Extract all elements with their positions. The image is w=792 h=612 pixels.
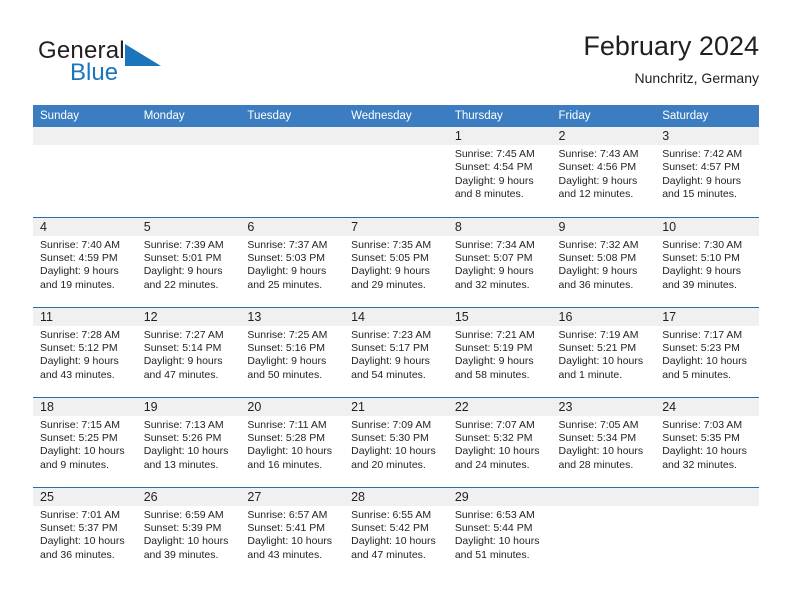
daylight-text: Daylight: 10 hours and 20 minutes. [351, 445, 440, 472]
calendar-day-cell-empty [240, 127, 344, 217]
day-number [552, 488, 656, 506]
daylight-text: Daylight: 10 hours and 16 minutes. [247, 445, 336, 472]
day-number: 16 [552, 308, 656, 326]
day-details: Sunrise: 7:17 AMSunset: 5:23 PMDaylight:… [655, 326, 759, 383]
day-details: Sunrise: 7:01 AMSunset: 5:37 PMDaylight:… [33, 506, 137, 563]
day-details: Sunrise: 7:21 AMSunset: 5:19 PMDaylight:… [448, 326, 552, 383]
sunset-text: Sunset: 5:07 PM [455, 252, 544, 265]
daylight-text: Daylight: 10 hours and 13 minutes. [144, 445, 233, 472]
daylight-text: Daylight: 9 hours and 32 minutes. [455, 265, 544, 292]
day-details: Sunrise: 7:27 AMSunset: 5:14 PMDaylight:… [137, 326, 241, 383]
sunset-text: Sunset: 5:16 PM [247, 342, 336, 355]
calendar-body: 1Sunrise: 7:45 AMSunset: 4:54 PMDaylight… [33, 127, 759, 575]
day-number [344, 127, 448, 145]
sunset-text: Sunset: 5:14 PM [144, 342, 233, 355]
calendar-day-cell[interactable]: 24Sunrise: 7:03 AMSunset: 5:35 PMDayligh… [655, 397, 759, 487]
sunset-text: Sunset: 4:57 PM [662, 161, 751, 174]
calendar-page: General Blue February 2024 Nunchritz, Ge… [0, 0, 792, 612]
calendar-day-cell[interactable]: 9Sunrise: 7:32 AMSunset: 5:08 PMDaylight… [552, 217, 656, 307]
calendar-week-row: 11Sunrise: 7:28 AMSunset: 5:12 PMDayligh… [33, 307, 759, 397]
daylight-text: Daylight: 10 hours and 1 minute. [559, 355, 648, 382]
day-number: 1 [448, 127, 552, 145]
sunrise-text: Sunrise: 7:39 AM [144, 239, 233, 252]
daylight-text: Daylight: 10 hours and 43 minutes. [247, 535, 336, 562]
day-details: Sunrise: 7:30 AMSunset: 5:10 PMDaylight:… [655, 236, 759, 293]
calendar-day-cell[interactable]: 14Sunrise: 7:23 AMSunset: 5:17 PMDayligh… [344, 307, 448, 397]
sunset-text: Sunset: 5:03 PM [247, 252, 336, 265]
sunrise-text: Sunrise: 7:45 AM [455, 148, 544, 161]
calendar-day-cell[interactable]: 28Sunrise: 6:55 AMSunset: 5:42 PMDayligh… [344, 487, 448, 575]
calendar-week-row: 18Sunrise: 7:15 AMSunset: 5:25 PMDayligh… [33, 397, 759, 487]
sunrise-text: Sunrise: 7:34 AM [455, 239, 544, 252]
weekday-header-tuesday: Tuesday [240, 105, 344, 127]
calendar-day-cell[interactable]: 27Sunrise: 6:57 AMSunset: 5:41 PMDayligh… [240, 487, 344, 575]
daylight-text: Daylight: 9 hours and 12 minutes. [559, 175, 648, 202]
day-details: Sunrise: 7:25 AMSunset: 5:16 PMDaylight:… [240, 326, 344, 383]
day-details: Sunrise: 6:57 AMSunset: 5:41 PMDaylight:… [240, 506, 344, 563]
sunset-text: Sunset: 5:05 PM [351, 252, 440, 265]
day-number: 3 [655, 127, 759, 145]
sunrise-text: Sunrise: 7:15 AM [40, 419, 129, 432]
day-details: Sunrise: 7:40 AMSunset: 4:59 PMDaylight:… [33, 236, 137, 293]
daylight-text: Daylight: 10 hours and 39 minutes. [144, 535, 233, 562]
brand-name-bottom: Blue [70, 60, 118, 86]
daylight-text: Daylight: 9 hours and 58 minutes. [455, 355, 544, 382]
sunrise-text: Sunrise: 7:01 AM [40, 509, 129, 522]
sunset-text: Sunset: 5:41 PM [247, 522, 336, 535]
sunset-text: Sunset: 5:30 PM [351, 432, 440, 445]
sunrise-text: Sunrise: 7:40 AM [40, 239, 129, 252]
daylight-text: Daylight: 9 hours and 50 minutes. [247, 355, 336, 382]
sunset-text: Sunset: 5:01 PM [144, 252, 233, 265]
sunset-text: Sunset: 5:44 PM [455, 522, 544, 535]
day-details: Sunrise: 7:13 AMSunset: 5:26 PMDaylight:… [137, 416, 241, 473]
calendar-day-cell[interactable]: 11Sunrise: 7:28 AMSunset: 5:12 PMDayligh… [33, 307, 137, 397]
sunset-text: Sunset: 5:34 PM [559, 432, 648, 445]
calendar-week-row: 4Sunrise: 7:40 AMSunset: 4:59 PMDaylight… [33, 217, 759, 307]
sunrise-text: Sunrise: 7:11 AM [247, 419, 336, 432]
day-details: Sunrise: 6:55 AMSunset: 5:42 PMDaylight:… [344, 506, 448, 563]
calendar-day-cell[interactable]: 21Sunrise: 7:09 AMSunset: 5:30 PMDayligh… [344, 397, 448, 487]
daylight-text: Daylight: 9 hours and 15 minutes. [662, 175, 751, 202]
day-number [137, 127, 241, 145]
daylight-text: Daylight: 9 hours and 54 minutes. [351, 355, 440, 382]
daylight-text: Daylight: 9 hours and 25 minutes. [247, 265, 336, 292]
daylight-text: Daylight: 10 hours and 36 minutes. [40, 535, 129, 562]
general-blue-logo[interactable]: General Blue [33, 38, 263, 96]
weekday-header-friday: Friday [552, 105, 656, 127]
day-number: 17 [655, 308, 759, 326]
day-details: Sunrise: 7:34 AMSunset: 5:07 PMDaylight:… [448, 236, 552, 293]
calendar-day-cell[interactable]: 15Sunrise: 7:21 AMSunset: 5:19 PMDayligh… [448, 307, 552, 397]
day-details: Sunrise: 6:59 AMSunset: 5:39 PMDaylight:… [137, 506, 241, 563]
day-number: 12 [137, 308, 241, 326]
calendar-day-cell[interactable]: 2Sunrise: 7:43 AMSunset: 4:56 PMDaylight… [552, 127, 656, 217]
calendar-day-cell[interactable]: 20Sunrise: 7:11 AMSunset: 5:28 PMDayligh… [240, 397, 344, 487]
sunrise-text: Sunrise: 7:13 AM [144, 419, 233, 432]
day-number: 7 [344, 218, 448, 236]
day-number: 4 [33, 218, 137, 236]
calendar-day-cell[interactable]: 29Sunrise: 6:53 AMSunset: 5:44 PMDayligh… [448, 487, 552, 575]
daylight-text: Daylight: 10 hours and 5 minutes. [662, 355, 751, 382]
daylight-text: Daylight: 10 hours and 51 minutes. [455, 535, 544, 562]
calendar-day-cell-empty [655, 487, 759, 575]
sunset-text: Sunset: 5:12 PM [40, 342, 129, 355]
sunrise-text: Sunrise: 7:21 AM [455, 329, 544, 342]
day-details: Sunrise: 6:53 AMSunset: 5:44 PMDaylight:… [448, 506, 552, 563]
day-number: 22 [448, 398, 552, 416]
calendar-day-cell-empty [137, 127, 241, 217]
daylight-text: Daylight: 10 hours and 32 minutes. [662, 445, 751, 472]
sunrise-text: Sunrise: 6:59 AM [144, 509, 233, 522]
calendar-day-cell[interactable]: 25Sunrise: 7:01 AMSunset: 5:37 PMDayligh… [33, 487, 137, 575]
calendar-day-cell[interactable]: 4Sunrise: 7:40 AMSunset: 4:59 PMDaylight… [33, 217, 137, 307]
sunrise-text: Sunrise: 7:32 AM [559, 239, 648, 252]
day-number: 2 [552, 127, 656, 145]
sunset-text: Sunset: 5:08 PM [559, 252, 648, 265]
calendar-day-cell[interactable]: 5Sunrise: 7:39 AMSunset: 5:01 PMDaylight… [137, 217, 241, 307]
daylight-text: Daylight: 9 hours and 39 minutes. [662, 265, 751, 292]
daylight-text: Daylight: 10 hours and 28 minutes. [559, 445, 648, 472]
calendar-day-cell[interactable]: 22Sunrise: 7:07 AMSunset: 5:32 PMDayligh… [448, 397, 552, 487]
day-details: Sunrise: 7:35 AMSunset: 5:05 PMDaylight:… [344, 236, 448, 293]
sunset-text: Sunset: 4:59 PM [40, 252, 129, 265]
weekday-header-wednesday: Wednesday [344, 105, 448, 127]
day-number: 21 [344, 398, 448, 416]
sunrise-text: Sunrise: 7:09 AM [351, 419, 440, 432]
day-number: 28 [344, 488, 448, 506]
daylight-text: Daylight: 9 hours and 47 minutes. [144, 355, 233, 382]
sunrise-text: Sunrise: 7:17 AM [662, 329, 751, 342]
weekday-header-row: Sunday Monday Tuesday Wednesday Thursday… [33, 105, 759, 127]
day-number [33, 127, 137, 145]
calendar-day-cell[interactable]: 8Sunrise: 7:34 AMSunset: 5:07 PMDaylight… [448, 217, 552, 307]
day-details: Sunrise: 7:11 AMSunset: 5:28 PMDaylight:… [240, 416, 344, 473]
sunrise-text: Sunrise: 7:27 AM [144, 329, 233, 342]
daylight-text: Daylight: 9 hours and 8 minutes. [455, 175, 544, 202]
day-details: Sunrise: 7:37 AMSunset: 5:03 PMDaylight:… [240, 236, 344, 293]
calendar-day-cell[interactable]: 7Sunrise: 7:35 AMSunset: 5:05 PMDaylight… [344, 217, 448, 307]
sunset-text: Sunset: 5:17 PM [351, 342, 440, 355]
day-details: Sunrise: 7:03 AMSunset: 5:35 PMDaylight:… [655, 416, 759, 473]
calendar-day-cell[interactable]: 1Sunrise: 7:45 AMSunset: 4:54 PMDaylight… [448, 127, 552, 217]
calendar-day-cell[interactable]: 3Sunrise: 7:42 AMSunset: 4:57 PMDaylight… [655, 127, 759, 217]
calendar-day-cell-empty [33, 127, 137, 217]
sunrise-text: Sunrise: 7:43 AM [559, 148, 648, 161]
calendar-day-cell[interactable]: 10Sunrise: 7:30 AMSunset: 5:10 PMDayligh… [655, 217, 759, 307]
day-number: 18 [33, 398, 137, 416]
day-number: 19 [137, 398, 241, 416]
calendar-day-cell-empty [552, 487, 656, 575]
daylight-text: Daylight: 9 hours and 29 minutes. [351, 265, 440, 292]
sunset-text: Sunset: 5:10 PM [662, 252, 751, 265]
sunset-text: Sunset: 5:23 PM [662, 342, 751, 355]
day-number: 14 [344, 308, 448, 326]
day-details: Sunrise: 7:45 AMSunset: 4:54 PMDaylight:… [448, 145, 552, 202]
calendar-day-cell[interactable]: 23Sunrise: 7:05 AMSunset: 5:34 PMDayligh… [552, 397, 656, 487]
calendar-table: Sunday Monday Tuesday Wednesday Thursday… [33, 105, 759, 575]
sunset-text: Sunset: 4:54 PM [455, 161, 544, 174]
day-number: 5 [137, 218, 241, 236]
daylight-text: Daylight: 9 hours and 36 minutes. [559, 265, 648, 292]
day-number: 24 [655, 398, 759, 416]
sunset-text: Sunset: 5:35 PM [662, 432, 751, 445]
sunrise-text: Sunrise: 7:05 AM [559, 419, 648, 432]
sunrise-text: Sunrise: 7:03 AM [662, 419, 751, 432]
day-number: 20 [240, 398, 344, 416]
sunrise-text: Sunrise: 7:30 AM [662, 239, 751, 252]
sunrise-text: Sunrise: 7:23 AM [351, 329, 440, 342]
daylight-text: Daylight: 9 hours and 22 minutes. [144, 265, 233, 292]
sunrise-text: Sunrise: 7:37 AM [247, 239, 336, 252]
day-number [240, 127, 344, 145]
sunrise-text: Sunrise: 7:19 AM [559, 329, 648, 342]
calendar-day-cell-empty [344, 127, 448, 217]
day-details: Sunrise: 7:42 AMSunset: 4:57 PMDaylight:… [655, 145, 759, 202]
calendar-week-row: 1Sunrise: 7:45 AMSunset: 4:54 PMDaylight… [33, 127, 759, 217]
calendar-week-row: 25Sunrise: 7:01 AMSunset: 5:37 PMDayligh… [33, 487, 759, 575]
sunrise-text: Sunrise: 6:53 AM [455, 509, 544, 522]
sunset-text: Sunset: 5:19 PM [455, 342, 544, 355]
sunset-text: Sunset: 4:56 PM [559, 161, 648, 174]
sunset-text: Sunset: 5:21 PM [559, 342, 648, 355]
sunrise-text: Sunrise: 7:28 AM [40, 329, 129, 342]
weekday-header-saturday: Saturday [655, 105, 759, 127]
calendar-day-cell[interactable]: 6Sunrise: 7:37 AMSunset: 5:03 PMDaylight… [240, 217, 344, 307]
page-title: February 2024 [583, 30, 759, 62]
page-header: General Blue February 2024 Nunchritz, Ge… [33, 30, 759, 100]
day-number: 8 [448, 218, 552, 236]
page-subtitle: Nunchritz, Germany [583, 68, 759, 88]
day-details: Sunrise: 7:05 AMSunset: 5:34 PMDaylight:… [552, 416, 656, 473]
day-details: Sunrise: 7:15 AMSunset: 5:25 PMDaylight:… [33, 416, 137, 473]
sunset-text: Sunset: 5:32 PM [455, 432, 544, 445]
day-number: 11 [33, 308, 137, 326]
weekday-header-sunday: Sunday [33, 105, 137, 127]
calendar-day-cell[interactable]: 26Sunrise: 6:59 AMSunset: 5:39 PMDayligh… [137, 487, 241, 575]
daylight-text: Daylight: 9 hours and 19 minutes. [40, 265, 129, 292]
day-details: Sunrise: 7:28 AMSunset: 5:12 PMDaylight:… [33, 326, 137, 383]
sunrise-text: Sunrise: 7:07 AM [455, 419, 544, 432]
day-number: 10 [655, 218, 759, 236]
day-number: 13 [240, 308, 344, 326]
sunset-text: Sunset: 5:42 PM [351, 522, 440, 535]
day-details: Sunrise: 7:32 AMSunset: 5:08 PMDaylight:… [552, 236, 656, 293]
daylight-text: Daylight: 10 hours and 24 minutes. [455, 445, 544, 472]
triangle-icon [125, 44, 161, 66]
day-number: 6 [240, 218, 344, 236]
daylight-text: Daylight: 10 hours and 47 minutes. [351, 535, 440, 562]
calendar-day-cell[interactable]: 17Sunrise: 7:17 AMSunset: 5:23 PMDayligh… [655, 307, 759, 397]
day-number: 9 [552, 218, 656, 236]
day-details: Sunrise: 7:43 AMSunset: 4:56 PMDaylight:… [552, 145, 656, 202]
daylight-text: Daylight: 9 hours and 43 minutes. [40, 355, 129, 382]
sunset-text: Sunset: 5:25 PM [40, 432, 129, 445]
day-number [655, 488, 759, 506]
sunset-text: Sunset: 5:26 PM [144, 432, 233, 445]
day-details: Sunrise: 7:39 AMSunset: 5:01 PMDaylight:… [137, 236, 241, 293]
weekday-header-monday: Monday [137, 105, 241, 127]
sunset-text: Sunset: 5:39 PM [144, 522, 233, 535]
daylight-text: Daylight: 10 hours and 9 minutes. [40, 445, 129, 472]
day-number: 25 [33, 488, 137, 506]
sunrise-text: Sunrise: 7:35 AM [351, 239, 440, 252]
day-number: 15 [448, 308, 552, 326]
day-number: 23 [552, 398, 656, 416]
sunset-text: Sunset: 5:28 PM [247, 432, 336, 445]
sunset-text: Sunset: 5:37 PM [40, 522, 129, 535]
day-details: Sunrise: 7:23 AMSunset: 5:17 PMDaylight:… [344, 326, 448, 383]
calendar-day-cell[interactable]: 18Sunrise: 7:15 AMSunset: 5:25 PMDayligh… [33, 397, 137, 487]
calendar-day-cell[interactable]: 19Sunrise: 7:13 AMSunset: 5:26 PMDayligh… [137, 397, 241, 487]
weekday-header-thursday: Thursday [448, 105, 552, 127]
day-details: Sunrise: 7:07 AMSunset: 5:32 PMDaylight:… [448, 416, 552, 473]
day-number: 26 [137, 488, 241, 506]
title-block: February 2024 Nunchritz, Germany [583, 30, 759, 88]
sunrise-text: Sunrise: 6:57 AM [247, 509, 336, 522]
sunrise-text: Sunrise: 6:55 AM [351, 509, 440, 522]
day-number: 29 [448, 488, 552, 506]
day-details: Sunrise: 7:09 AMSunset: 5:30 PMDaylight:… [344, 416, 448, 473]
day-number: 27 [240, 488, 344, 506]
sunrise-text: Sunrise: 7:42 AM [662, 148, 751, 161]
calendar-day-cell[interactable]: 13Sunrise: 7:25 AMSunset: 5:16 PMDayligh… [240, 307, 344, 397]
calendar-day-cell[interactable]: 16Sunrise: 7:19 AMSunset: 5:21 PMDayligh… [552, 307, 656, 397]
calendar-day-cell[interactable]: 12Sunrise: 7:27 AMSunset: 5:14 PMDayligh… [137, 307, 241, 397]
sunrise-text: Sunrise: 7:25 AM [247, 329, 336, 342]
day-details: Sunrise: 7:19 AMSunset: 5:21 PMDaylight:… [552, 326, 656, 383]
